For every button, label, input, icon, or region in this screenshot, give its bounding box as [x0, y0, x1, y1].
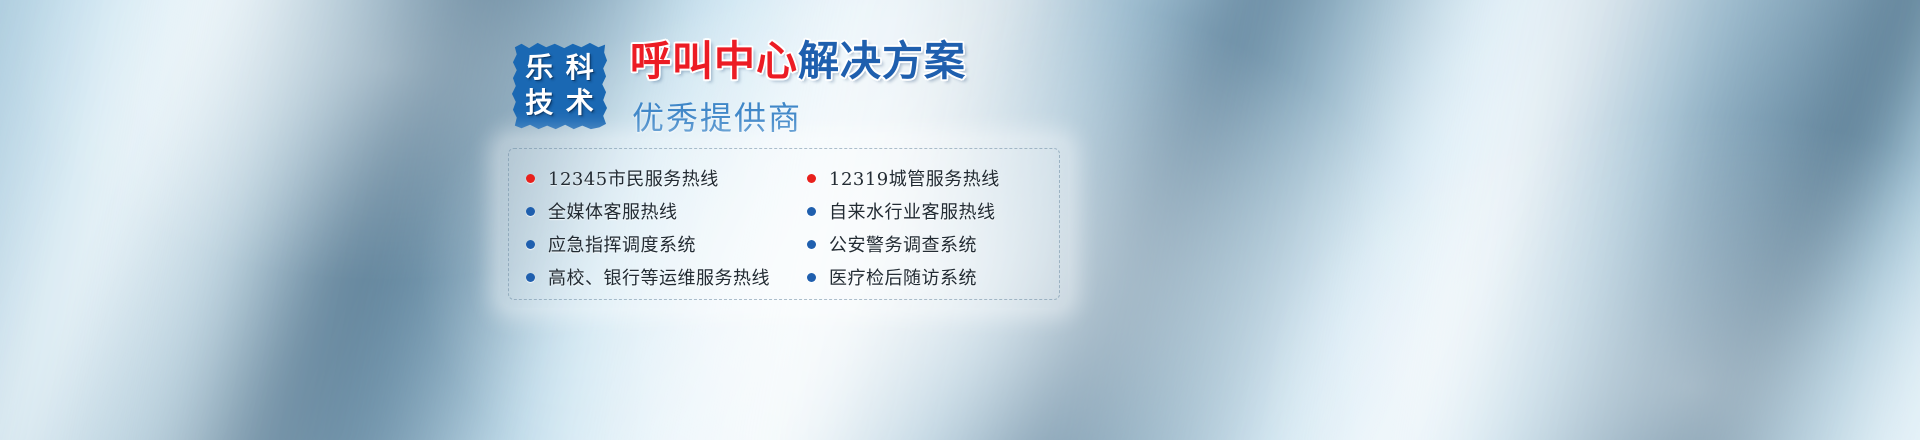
- bullet-icon: [526, 273, 535, 282]
- bullet-icon: [807, 273, 816, 282]
- logo-characters: 乐 科 技 术: [512, 42, 607, 130]
- company-logo[interactable]: 乐 科 技 术: [512, 42, 607, 130]
- logo-char-2: 科: [566, 54, 594, 82]
- list-item[interactable]: 高校、银行等运维服务热线: [526, 261, 797, 293]
- list-item-label: 12345市民服务热线: [548, 165, 719, 191]
- list-item-label: 应急指挥调度系统: [548, 231, 696, 257]
- list-item[interactable]: 12345市民服务热线: [526, 162, 797, 194]
- list-item-label: 医疗检后随访系统: [829, 264, 977, 290]
- logo-char-1: 乐: [525, 54, 553, 82]
- feature-panel: 12345市民服务热线 全媒体客服热线 应急指挥调度系统 高校、银行等运维服务热…: [500, 140, 1068, 308]
- list-item[interactable]: 公安警务调查系统: [807, 228, 1068, 260]
- bullet-icon: [807, 174, 816, 183]
- feature-column-right: 12319城管服务热线 自来水行业客服热线 公安警务调查系统 医疗检后随访系统: [797, 162, 1068, 286]
- headline-highlight: 呼叫中心: [630, 37, 798, 85]
- list-item-label: 12319城管服务热线: [829, 165, 1000, 191]
- list-item[interactable]: 自来水行业客服热线: [807, 195, 1068, 227]
- list-item[interactable]: 12319城管服务热线: [807, 162, 1068, 194]
- bullet-icon: [526, 240, 535, 249]
- bullet-icon: [807, 240, 816, 249]
- logo-char-3: 技: [525, 89, 553, 117]
- list-item[interactable]: 医疗检后随访系统: [807, 261, 1068, 293]
- feature-panel-columns: 12345市民服务热线 全媒体客服热线 应急指挥调度系统 高校、银行等运维服务热…: [500, 140, 1068, 308]
- bullet-icon: [526, 207, 535, 216]
- banner-headline: 呼叫中心解决方案: [630, 40, 966, 83]
- logo-char-4: 术: [566, 89, 594, 117]
- headline-rest: 解决方案: [798, 37, 966, 85]
- banner-subtitle: 优秀提供商: [632, 93, 802, 139]
- bullet-icon: [807, 207, 816, 216]
- bullet-icon: [526, 174, 535, 183]
- banner-content: 乐 科 技 术 呼叫中心解决方案 优秀提供商 12345市民服务热线: [0, 0, 1920, 440]
- list-item-label: 高校、银行等运维服务热线: [548, 264, 770, 290]
- list-item[interactable]: 应急指挥调度系统: [526, 228, 797, 260]
- list-item[interactable]: 全媒体客服热线: [526, 195, 797, 227]
- list-item-label: 自来水行业客服热线: [829, 198, 996, 224]
- hero-banner: 乐 科 技 术 呼叫中心解决方案 优秀提供商 12345市民服务热线: [0, 0, 1920, 440]
- feature-column-left: 12345市民服务热线 全媒体客服热线 应急指挥调度系统 高校、银行等运维服务热…: [526, 162, 797, 286]
- list-item-label: 公安警务调查系统: [829, 231, 977, 257]
- list-item-label: 全媒体客服热线: [548, 198, 678, 224]
